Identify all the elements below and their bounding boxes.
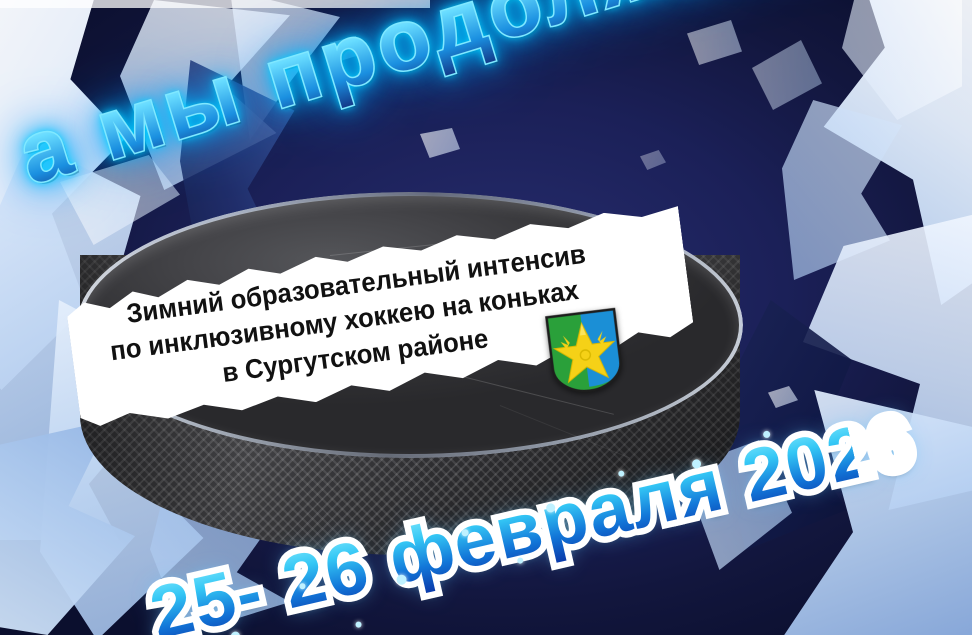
ice-chip-1	[420, 128, 460, 158]
ice-chip-4	[640, 150, 666, 170]
coat-of-arms-icon	[544, 307, 625, 397]
surgut-district-emblem	[544, 307, 625, 397]
ice-shard-right-8	[752, 40, 822, 110]
poster-canvas: HOCKEY а мы продолжаем! а мы продолжаем!…	[0, 0, 972, 635]
ice-shard-right-9	[687, 20, 742, 65]
bubble-dot	[355, 621, 362, 628]
